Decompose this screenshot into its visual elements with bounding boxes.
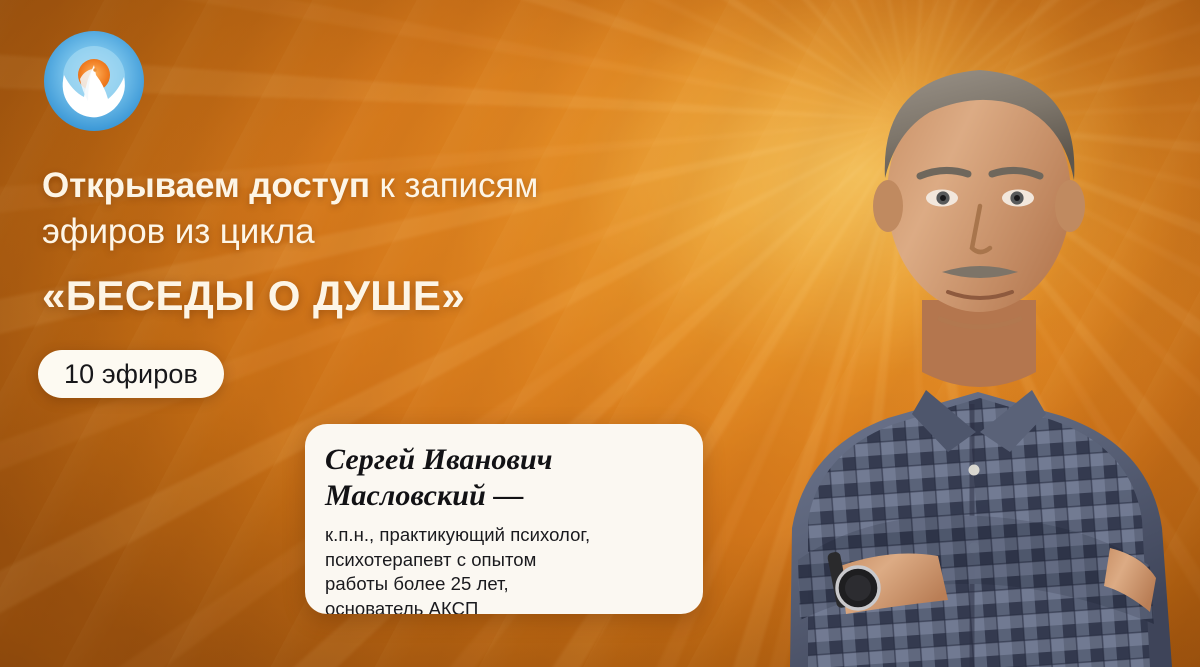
speaker-photo [680, 0, 1200, 667]
dove-sun-circle-logo-icon [42, 29, 146, 133]
episodes-count-badge: 10 эфиров [38, 350, 224, 398]
headline-block: Открываем доступ к записям эфиров из цик… [42, 163, 802, 321]
headline-line-1: Открываем доступ к записям [42, 163, 802, 209]
series-title: «БЕСЕДЫ О ДУШЕ» [42, 271, 802, 321]
speaker-name-line-2: Масловский — [325, 478, 681, 514]
speaker-desc-line-2: психотерапевт с опытом [325, 548, 681, 573]
speaker-desc-line-4: основатель АКСП [325, 597, 681, 615]
speaker-name: Сергей Иванович Масловский — [325, 442, 681, 514]
promo-banner: Открываем доступ к записям эфиров из цик… [0, 0, 1200, 667]
speaker-desc-line-1: к.п.н., практикующий психолог, [325, 523, 681, 548]
headline-rest: к записям [370, 166, 538, 205]
speaker-description: к.п.н., практикующий психолог, психотера… [325, 523, 681, 614]
speaker-desc-line-3: работы более 25 лет, [325, 572, 681, 597]
headline-strong: Открываем доступ [42, 166, 370, 205]
speaker-info-card: Сергей Иванович Масловский — к.п.н., пра… [305, 424, 703, 614]
speaker-name-line-1: Сергей Иванович [325, 442, 681, 478]
headline-line-2: эфиров из цикла [42, 209, 802, 255]
